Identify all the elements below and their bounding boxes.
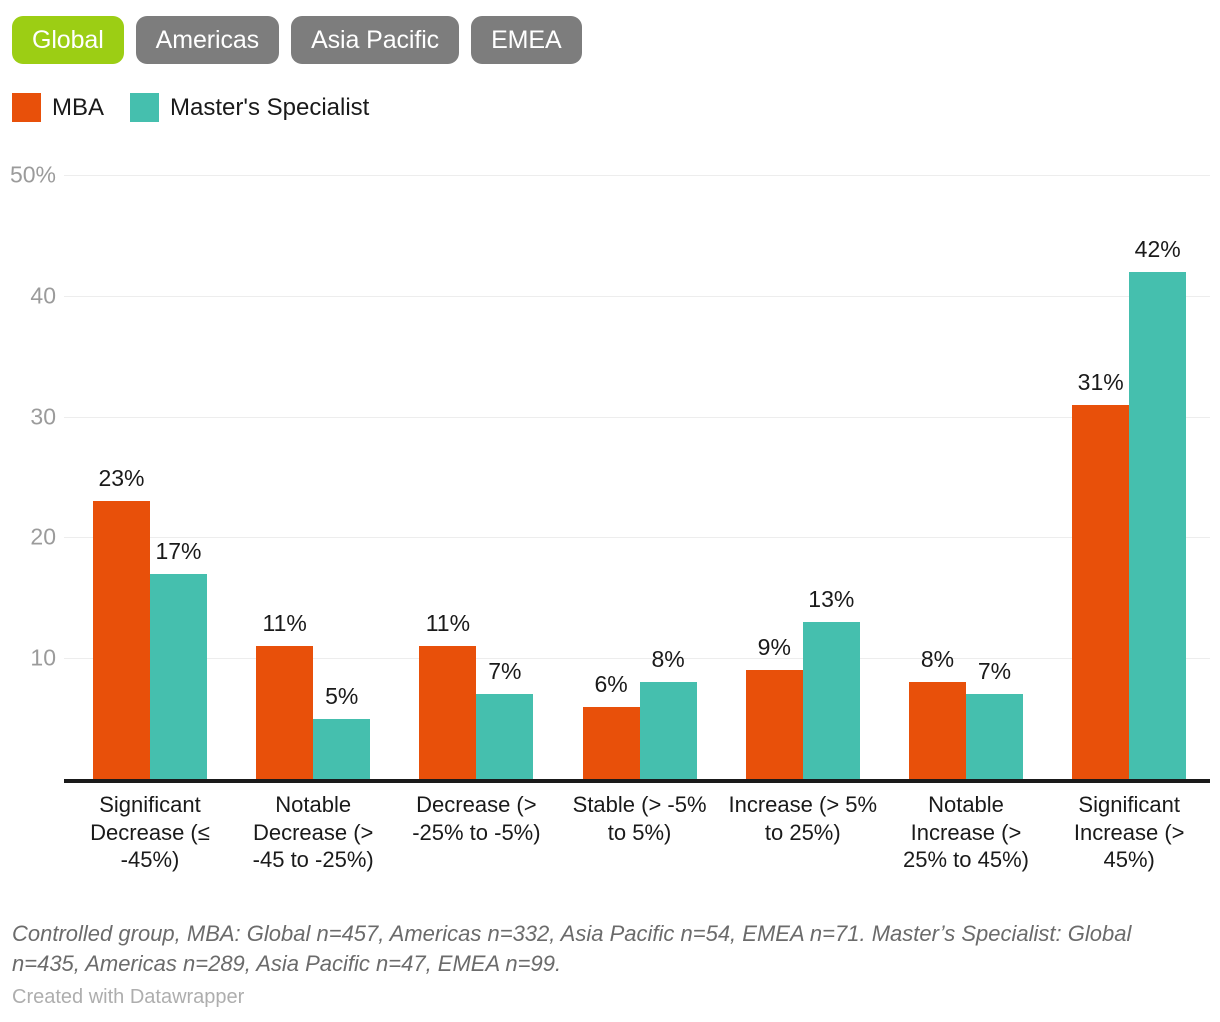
- x-axis-category-label: Increase (> 5% to 25%): [726, 791, 879, 846]
- x-axis-category-label: Notable Increase (> 25% to 45%): [889, 791, 1042, 874]
- x-axis-category-label: Notable Decrease (> -45 to -25%): [237, 791, 390, 874]
- y-axis-tick-label: 20: [0, 524, 56, 551]
- gridline: [64, 537, 1210, 538]
- bar-value-label: 8%: [651, 646, 684, 673]
- bar-value-label: 42%: [1135, 236, 1181, 263]
- x-axis-category-label: Decrease (> -25% to -5%): [400, 791, 553, 846]
- bar-specialist[interactable]: [640, 682, 697, 779]
- bar-value-label: 9%: [758, 634, 791, 661]
- bar-value-label: 8%: [921, 646, 954, 673]
- chart-page: GlobalAmericasAsia PacificEMEA MBAMaster…: [0, 0, 1220, 1022]
- chart-footnote: Controlled group, MBA: Global n=457, Ame…: [12, 919, 1202, 980]
- y-axis-tick-label: 10: [0, 645, 56, 672]
- y-axis-tick-label: 50%: [0, 162, 56, 189]
- bar-value-label: 17%: [155, 538, 201, 565]
- x-axis-category-label: Stable (> -5% to 5%): [563, 791, 716, 846]
- bar-mba[interactable]: [419, 646, 476, 779]
- gridline: [64, 658, 1210, 659]
- datawrapper-credit: Created with Datawrapper: [12, 986, 244, 1009]
- bar-specialist[interactable]: [1129, 272, 1186, 779]
- bar-value-label: 11%: [263, 610, 307, 637]
- bar-value-label: 31%: [1078, 369, 1124, 396]
- bar-mba[interactable]: [909, 682, 966, 779]
- bar-specialist[interactable]: [803, 622, 860, 779]
- y-axis-tick-label: 30: [0, 403, 56, 430]
- y-axis-tick-label: 40: [0, 282, 56, 309]
- bar-specialist[interactable]: [150, 574, 207, 779]
- bar-specialist[interactable]: [313, 719, 370, 779]
- gridline: [64, 417, 1210, 418]
- gridline: [64, 296, 1210, 297]
- x-axis-category-label: Significant Decrease (≤ -45%): [73, 791, 226, 874]
- bar-value-label: 13%: [808, 586, 854, 613]
- x-axis-category-label: Significant Increase (> 45%): [1053, 791, 1206, 874]
- bar-specialist[interactable]: [966, 694, 1023, 779]
- bar-value-label: 6%: [594, 671, 627, 698]
- bar-value-label: 7%: [488, 658, 521, 685]
- bar-value-label: 11%: [426, 610, 470, 637]
- bar-value-label: 23%: [98, 465, 144, 492]
- bar-chart-plot: 50%4030201023%17%Significant Decrease (≤…: [0, 0, 1220, 1022]
- x-axis-baseline: [64, 779, 1210, 783]
- bar-mba[interactable]: [1072, 405, 1129, 779]
- bar-mba[interactable]: [583, 707, 640, 779]
- bar-mba[interactable]: [746, 670, 803, 779]
- bar-mba[interactable]: [93, 501, 150, 779]
- bar-mba[interactable]: [256, 646, 313, 779]
- bar-value-label: 7%: [978, 658, 1011, 685]
- gridline: [64, 175, 1210, 176]
- bar-specialist[interactable]: [476, 694, 533, 779]
- bar-value-label: 5%: [325, 683, 358, 710]
